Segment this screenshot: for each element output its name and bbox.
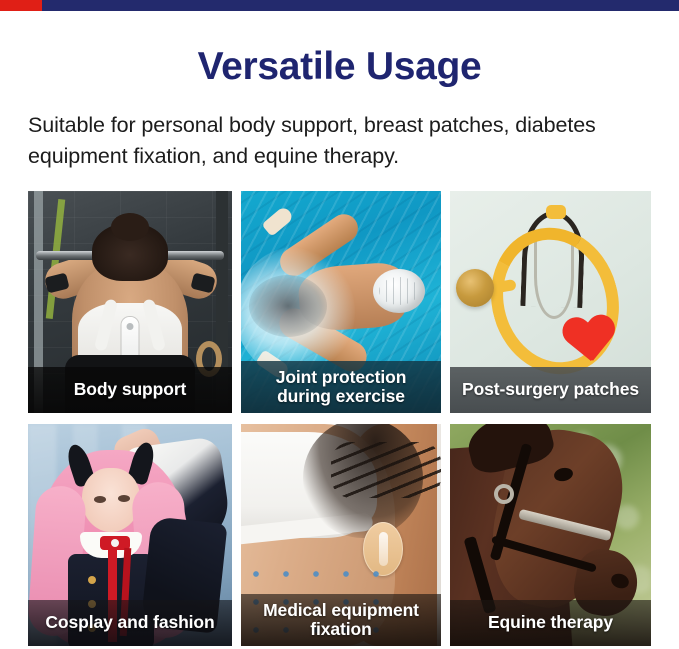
page-title: Versatile Usage	[28, 47, 651, 88]
gallery-cell-body-support[interactable]: Body support	[28, 191, 232, 413]
gallery-caption: Post-surgery patches	[450, 367, 651, 413]
gallery-cell-joint-protection[interactable]: Joint protection during exercise	[241, 191, 441, 413]
top-accent-bar	[0, 0, 679, 11]
top-accent-red-segment	[0, 0, 42, 11]
gallery-cell-post-surgery-patches[interactable]: Post-surgery patches	[450, 191, 651, 413]
gallery-caption: Joint protection during exercise	[241, 361, 441, 413]
gallery-caption: Medical equipment fixation	[241, 594, 441, 646]
gallery-caption: Equine therapy	[450, 600, 651, 646]
page-subtitle: Suitable for personal body support, brea…	[28, 110, 651, 172]
gallery-caption: Body support	[28, 367, 232, 413]
gallery-cell-medical-equipment-fixation[interactable]: Medical equipment fixation	[241, 424, 441, 646]
gallery-cell-cosplay-fashion[interactable]: Cosplay and fashion	[28, 424, 232, 646]
header-block: Versatile Usage Suitable for personal bo…	[0, 47, 679, 172]
gallery-cell-equine-therapy[interactable]: Equine therapy	[450, 424, 651, 646]
top-accent-navy-segment	[42, 0, 679, 11]
gallery-caption: Cosplay and fashion	[28, 600, 232, 646]
usage-gallery-grid: Body support Joint protection during exe…	[28, 191, 651, 646]
